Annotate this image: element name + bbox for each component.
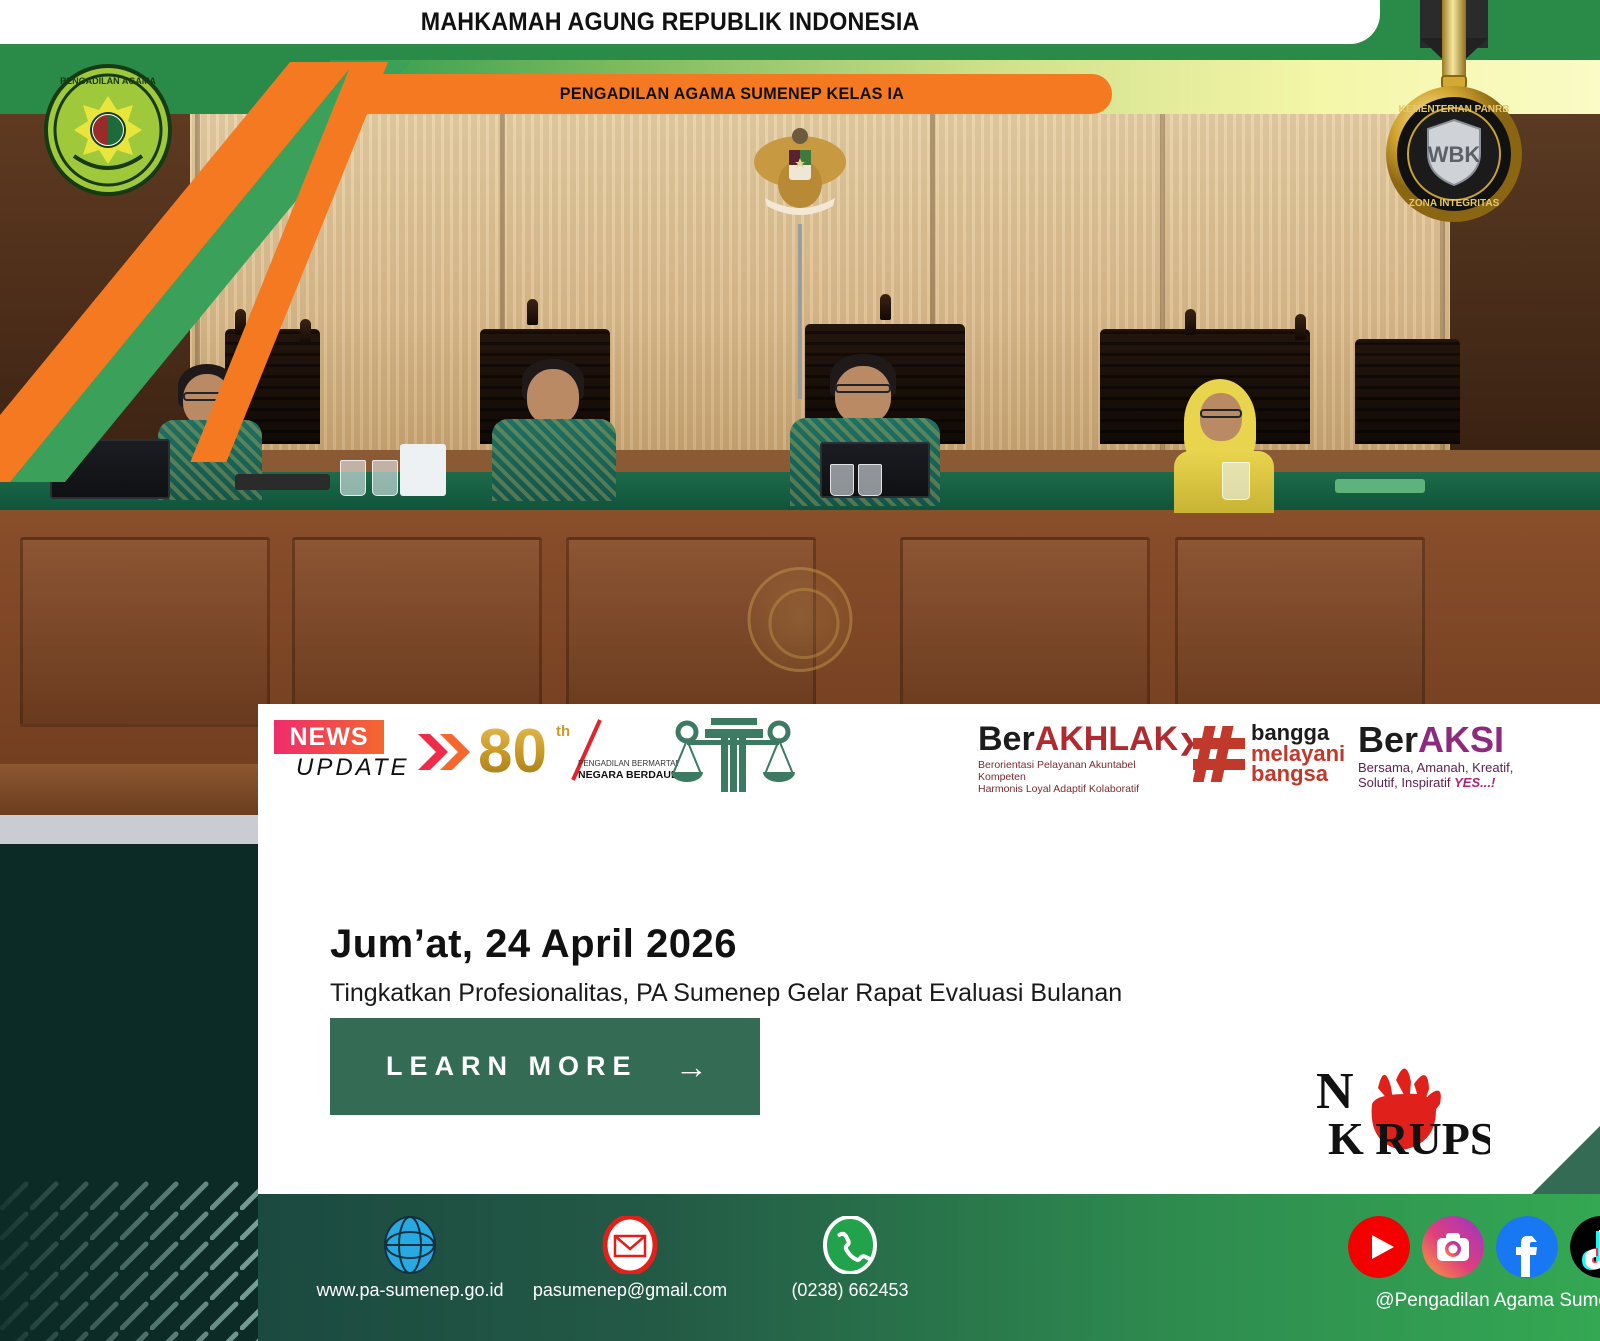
institution-title: MAHKAMAH AGUNG REPUBLIK INDONESIA: [421, 8, 920, 37]
anti-corruption-line2: K RUPSI: [1328, 1113, 1490, 1164]
beraksi-logo: BerAKSI Bersama, Amanah, Kreatif, Soluti…: [1358, 722, 1548, 790]
institution-title-bar: MAHKAMAH AGUNG REPUBLIK INDONESIA: [0, 0, 1380, 44]
berakhlak-title-a: Ber: [978, 720, 1035, 758]
news-card: NEWS UPDATE 80 th PENGADILAN BERMARTABAT…: [258, 704, 1600, 1194]
beraksi-yes: YES...!: [1454, 775, 1495, 790]
berakhlak-sub1: Berorientasi Pelayanan Akuntabel Kompete…: [978, 759, 1178, 783]
beraksi-sub2: Solutif, Inspiratif: [1358, 775, 1451, 790]
news-badge: NEWS: [274, 720, 384, 754]
learn-more-button[interactable]: LEARN MORE →: [330, 1018, 760, 1115]
anniversary-number: 80: [478, 717, 547, 786]
bangga-melayani-bangsa-logo: bangga melayani bangsa: [1193, 718, 1373, 790]
anti-corruption-logo-icon: N K RUPSI: [1310, 1046, 1490, 1166]
globe-icon: [381, 1216, 439, 1274]
youtube-icon[interactable]: [1348, 1216, 1410, 1278]
phone-icon: [821, 1216, 879, 1274]
wbk-text: WBK: [1428, 142, 1481, 167]
learn-more-label: LEARN MORE: [386, 1051, 638, 1082]
footer-bar: www.pa-sumenep.go.id pasumenep@gmail.com…: [258, 1194, 1600, 1341]
chevron-right-icon: [418, 732, 474, 772]
news-logo-strip: NEWS UPDATE 80 th PENGADILAN BERMARTABAT…: [258, 704, 1600, 800]
svg-text:PENGADILAN AGAMA: PENGADILAN AGAMA: [60, 76, 156, 86]
wbk-integrity-medal-icon: WBK KEMENTERIAN PANRB ZONA INTEGRITAS: [1384, 0, 1524, 254]
scales-of-justice-icon: [663, 714, 803, 794]
website-text: www.pa-sumenep.go.id: [316, 1280, 503, 1301]
instagram-icon[interactable]: [1422, 1216, 1484, 1278]
beraksi-title-a: Ber: [1358, 719, 1418, 760]
garuda-emblem-icon: [745, 122, 855, 232]
diagonal-stripe-pattern: [0, 1180, 258, 1341]
court-logo-icon: PENGADILAN AGAMA: [38, 62, 178, 198]
social-icons-row: [1348, 1216, 1600, 1278]
news-label: NEWS: [290, 723, 369, 752]
email-text: pasumenep@gmail.com: [533, 1280, 727, 1301]
update-label: UPDATE: [296, 754, 410, 782]
svg-text:ZONA INTEGRITAS: ZONA INTEGRITAS: [1409, 198, 1500, 209]
hashtag-icon: [1193, 724, 1245, 784]
poster-root: MAHKAMAH AGUNG REPUBLIK INDONESIA PENGAD…: [0, 0, 1600, 1341]
contact-phone[interactable]: (0238) 662453: [750, 1216, 950, 1301]
social-handle: @Pengadilan Agama Sumenep: [1348, 1290, 1600, 1312]
contact-website[interactable]: www.pa-sumenep.go.id: [310, 1216, 510, 1301]
anniversary-ordinal: th: [556, 723, 570, 740]
tiktok-icon[interactable]: [1570, 1216, 1600, 1278]
attendee-2: [490, 359, 620, 499]
beraksi-title-b: AKSI: [1418, 719, 1504, 760]
anti-corruption-line1: N: [1316, 1063, 1354, 1120]
anniversary-80th-logo-icon: 80 th PENGADILAN BERMARTABAT NEGARA BERD…: [478, 714, 678, 790]
svg-text:KEMENTERIAN PANRB: KEMENTERIAN PANRB: [1399, 104, 1510, 115]
court-name-text: PENGADILAN AGAMA SUMENEP KELAS IA: [371, 74, 1093, 114]
contact-email[interactable]: pasumenep@gmail.com: [530, 1216, 730, 1301]
bm-line3: bangsa: [1251, 764, 1345, 785]
berakhlak-logo: BerAKHLAK❯ Berorientasi Pelayanan Akunta…: [978, 722, 1178, 795]
news-date: Jum’at, 24 April 2026: [330, 922, 737, 967]
berakhlak-title-b: AKHLAK: [1035, 720, 1179, 758]
green-corner-accent: [1532, 1126, 1600, 1194]
court-seal-emboss: [748, 567, 853, 672]
berakhlak-sub2: Harmonis Loyal Adaptif Kolaboratif: [978, 783, 1178, 795]
news-headline: Tingkatkan Profesionalitas, PA Sumenep G…: [330, 979, 1122, 1008]
arrow-right-icon: →: [675, 1050, 708, 1083]
facebook-icon[interactable]: [1496, 1216, 1558, 1278]
beraksi-sub1: Bersama, Amanah, Kreatif,: [1358, 760, 1548, 775]
phone-text: (0238) 662453: [791, 1280, 908, 1301]
envelope-icon: [601, 1216, 659, 1274]
